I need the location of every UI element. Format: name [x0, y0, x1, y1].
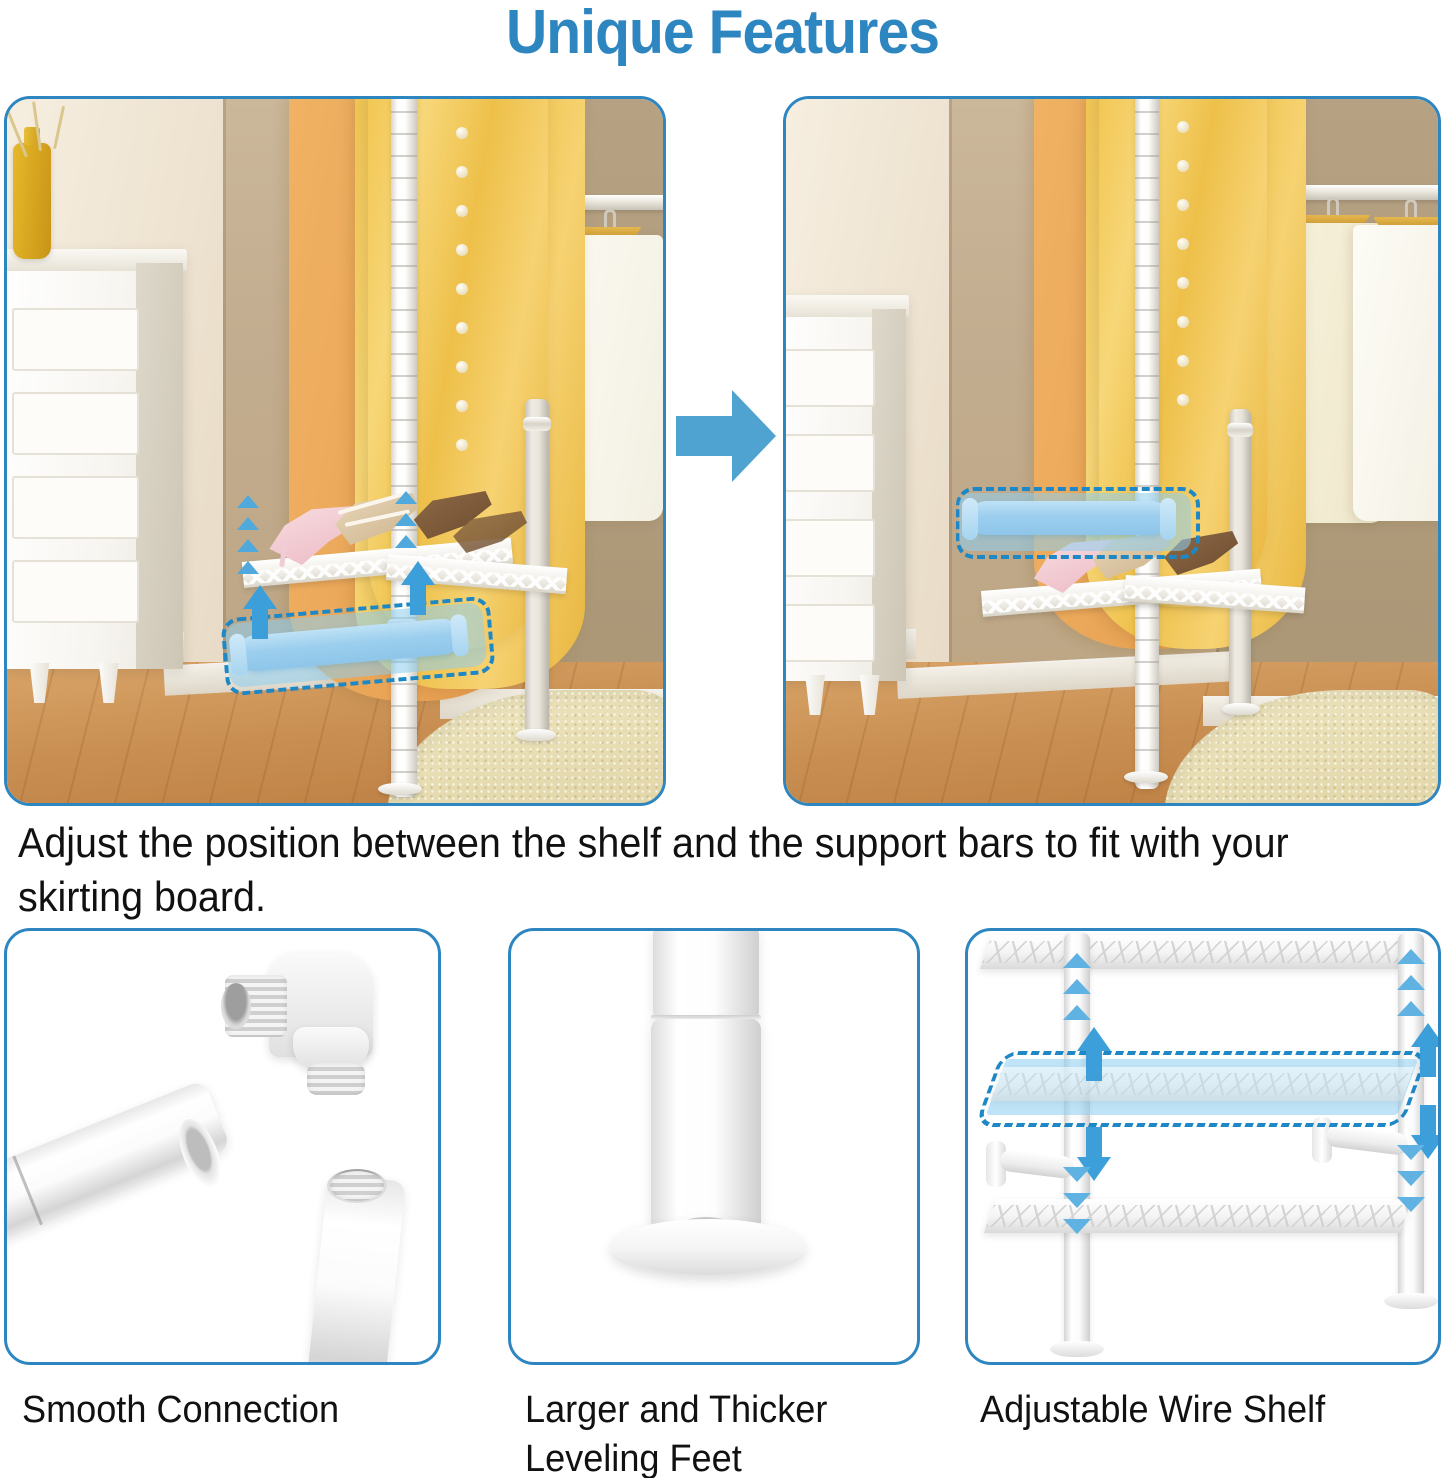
up-chevron-icon: [237, 517, 259, 530]
down-chevron-icon: [1397, 1197, 1425, 1212]
dresser-drawer: [12, 308, 139, 371]
pipe-internal-thread-ridges: [330, 1171, 384, 1201]
dresser-drawer: [786, 434, 875, 492]
decorative-vase: [13, 143, 51, 259]
elbow-thread-bore: [221, 983, 251, 1029]
up-chevron-icon: [395, 491, 417, 504]
closet-scene-before: [7, 99, 663, 803]
rack-post-rear: [1229, 409, 1251, 709]
post-lower-section: [651, 1019, 761, 1231]
dresser-side-panel: [136, 263, 183, 669]
down-chevron-icon: [1063, 1219, 1091, 1234]
main-caption: Adjust the position between the shelf an…: [18, 816, 1343, 924]
support-bar-end-cap: [228, 633, 248, 676]
adjust-up-arrow: [401, 561, 435, 585]
dresser-drawer: [12, 476, 139, 539]
support-bar-end-cap: [962, 498, 978, 540]
adjustable-wire-shelf-image: [965, 928, 1441, 1365]
adjustable-wire-shelf-caption: Adjustable Wire Shelf: [980, 1386, 1427, 1435]
leveling-feet-caption-line1: Larger and Thicker: [525, 1386, 905, 1435]
dresser-drawer: [786, 519, 875, 577]
dress-button-column: [456, 127, 468, 507]
up-chevron-icon: [1063, 1005, 1091, 1020]
closet-scene-after: [786, 99, 1438, 803]
down-chevron-icon: [1397, 1145, 1425, 1160]
leveling-feet-caption-line2: Leveling Feet: [525, 1435, 905, 1478]
infographic-page: Unique Features: [0, 0, 1445, 1478]
down-chevron-icon: [1063, 1193, 1091, 1208]
dresser-drawer: [786, 604, 875, 662]
dresser: [786, 295, 906, 681]
post-foot: [1124, 771, 1168, 783]
up-chevron-icon: [1397, 1001, 1425, 1016]
shelf-up-arrow: [1077, 1027, 1111, 1051]
pipe-connector-illustration: [7, 931, 438, 1362]
smooth-connection-image: [4, 928, 441, 1365]
post-upper-section: [653, 931, 759, 1021]
down-chevron-icon: [1063, 1167, 1091, 1182]
leveling-foot-base: [611, 1219, 805, 1275]
up-chevron-icon: [237, 495, 259, 508]
leveling-feet-image: [508, 928, 920, 1365]
up-chevron-icon: [1063, 953, 1091, 968]
up-chevron-icon: [237, 561, 259, 574]
rack-post-front: [1135, 99, 1159, 789]
up-chevron-icon: [1397, 975, 1425, 990]
bottom-wire-shelf: [984, 1199, 1412, 1233]
transition-arrow: [676, 390, 776, 482]
post-height-ticks: [391, 99, 417, 797]
left-post-foot: [1050, 1341, 1104, 1357]
post-collar: [523, 417, 551, 431]
top-wire-shelf: [980, 935, 1412, 969]
wall-seam: [223, 99, 226, 690]
shelf-up-arrow: [1411, 1023, 1438, 1047]
elbow-bottom-thread: [307, 1063, 365, 1095]
up-chevron-icon: [395, 513, 417, 526]
post-foot: [1222, 703, 1260, 715]
dresser: [7, 249, 183, 669]
hanger-hook: [1327, 197, 1339, 217]
dresser-drawer: [786, 349, 875, 407]
up-chevron-icon: [1063, 979, 1091, 994]
post-foot: [378, 783, 422, 795]
support-bar-end-cap: [449, 614, 469, 657]
up-chevron-icon: [395, 535, 417, 548]
smooth-connection-caption: Smooth Connection: [22, 1386, 431, 1435]
rack-post-front: [391, 99, 417, 797]
support-bar-above-shelf-photo: [783, 96, 1441, 806]
up-chevron-icon: [237, 539, 259, 552]
right-post-foot: [1384, 1293, 1438, 1309]
wire-shelf-diagram: [968, 931, 1438, 1362]
dresser-drawer: [12, 560, 139, 623]
wall-seam: [949, 99, 952, 690]
page-title: Unique Features: [58, 0, 1387, 72]
highlighted-support-bar: [969, 501, 1169, 535]
post-height-ticks: [1135, 99, 1159, 789]
leveling-feet-caption: Larger and Thicker Leveling Feet: [525, 1386, 905, 1478]
dresser-drawer: [12, 392, 139, 455]
down-chevron-icon: [1397, 1171, 1425, 1186]
post-collar: [1227, 423, 1253, 437]
support-bar-end-cap: [1160, 498, 1176, 540]
dress-button-column: [1177, 121, 1189, 471]
support-bar-below-shelf-photo: [4, 96, 666, 806]
hanger-hook: [1405, 199, 1417, 219]
adjust-up-arrow: [243, 585, 277, 609]
pipe-seam-ring: [12, 1156, 43, 1226]
hanger-hook: [604, 209, 616, 229]
post-foot: [516, 729, 556, 741]
leveling-foot-illustration: [511, 931, 917, 1362]
adjustable-shelf-highlight-box: [974, 1051, 1430, 1127]
up-chevron-icon: [1397, 949, 1425, 964]
dresser-side-panel: [872, 309, 906, 681]
hanging-shirt: [1353, 225, 1438, 521]
